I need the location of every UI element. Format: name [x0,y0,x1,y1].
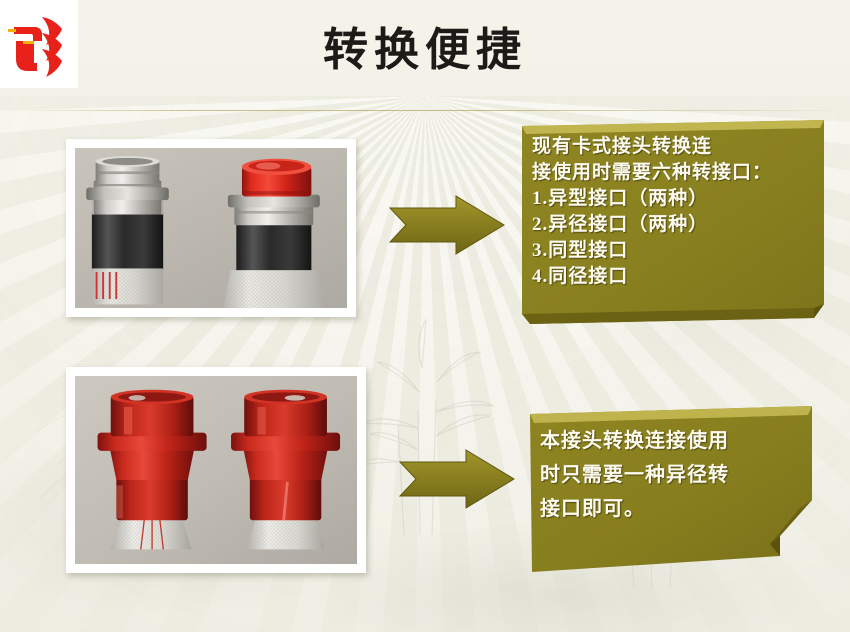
callout-existing-text: 现有卡式接头转换连 接使用时需要六种转接口： 1.异型接口（两种） 2.异径接口… [532,134,818,290]
callout-new-text: 本接头转换连接使用 时只需要一种异径转 接口即可。 [540,424,806,526]
slide-canvas: 转换便捷 [0,0,850,632]
photo-existing-couplings[interactable] [66,139,356,317]
callout-new[interactable]: 本接头转换连接使用 时只需要一种异径转 接口即可。 [524,404,820,582]
arrow-right-bottom [398,448,516,510]
photo-new-couplings[interactable] [66,367,366,573]
photo-image [75,376,357,564]
slide-header: 转换便捷 [0,0,850,112]
arrow-right-top [388,194,506,256]
page-title: 转换便捷 [0,22,850,78]
header-divider [6,110,844,111]
photo-image [75,148,347,308]
callout-existing[interactable]: 现有卡式接头转换连 接使用时需要六种转接口： 1.异型接口（两种） 2.异径接口… [518,118,834,328]
